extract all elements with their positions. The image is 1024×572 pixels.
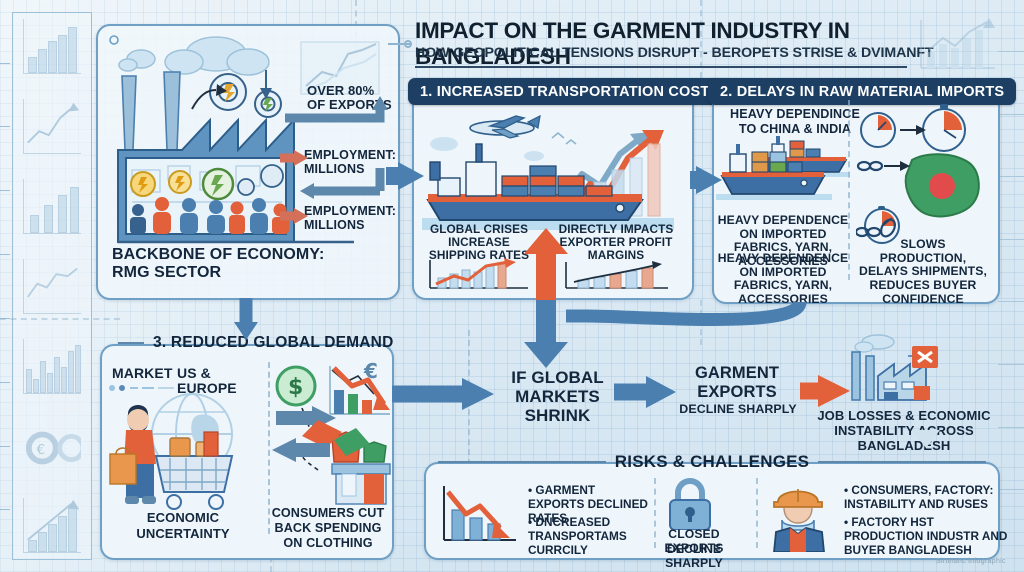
right-tick-marks bbox=[998, 30, 1024, 552]
risks-heading-rule-right bbox=[818, 461, 986, 463]
panel-3-heading: 3. REDUCED GLOBAL DEMAND bbox=[153, 334, 393, 352]
declining-bar-chart-icon bbox=[436, 482, 520, 550]
flow-exports-sub: DECLINE SHARPLY bbox=[668, 403, 808, 417]
mini-euro-donut-icon: € bbox=[23, 419, 81, 473]
mini-bar-chart-icon-2 bbox=[23, 179, 81, 234]
callout-exports-line2: OF EXPORTS bbox=[307, 98, 392, 113]
panel-3-heading-row: 3. REDUCED GLOBAL DEMAND bbox=[102, 334, 392, 352]
panel-3-right-caption-line1: CONSUMERS CUT bbox=[266, 506, 390, 520]
closed-factory-icon bbox=[838, 334, 968, 406]
flow-shrink-line3: SHRINK bbox=[500, 406, 615, 425]
flow-exports-line1: GARMENT bbox=[672, 364, 802, 382]
svg-text:€: € bbox=[363, 360, 378, 383]
mini-histogram-icon bbox=[23, 339, 81, 394]
bullet-dot: • bbox=[844, 483, 848, 497]
backbone-caption-line1: BACKBONE OF ECONOMY: bbox=[112, 246, 324, 264]
risks-right-bullet-2-text: FACTORY HST PRODUCTION INDUSTR AND BUYER… bbox=[844, 515, 1007, 557]
panel-2-left-caption-b: HEAVY DEPENDENCE ON IMPORTED FABRICS, YA… bbox=[716, 252, 850, 307]
risks-right-bullet-1: • CONSUMERS, FACTORY: INSTABILITY AND RU… bbox=[844, 484, 1004, 512]
panel-3-left-caption-line2: UNCERTAINTY bbox=[108, 527, 258, 542]
panel-1-illustration bbox=[414, 100, 688, 240]
risks-right-bullet-2: • FACTORY HST PRODUCTION INDUSTR AND BUY… bbox=[844, 516, 1012, 558]
panel-2-heading: 2. DELAYS IN RAW MATERIAL IMPORTS bbox=[708, 78, 1016, 105]
page-title: IMPACT ON THE GARMENT INDUSTRY IN BANGLA… bbox=[415, 18, 925, 70]
mini-line-chart-icon bbox=[23, 99, 81, 154]
callout-employment-1-line2: MILLIONS bbox=[304, 162, 365, 176]
flow-outcome-line1: JOB LOSSES & ECONOMIC bbox=[806, 409, 1002, 424]
panel-3-right-caption-line3: ON CLOTHING bbox=[266, 536, 390, 550]
panel-1-right-mini-chart-icon bbox=[560, 260, 672, 292]
flow-shrink-line2: MARKETS bbox=[500, 387, 615, 406]
page-subtitle: HOW GEOPOLITICAL TENSIONS DISRUPT - BERO… bbox=[415, 45, 935, 61]
flow-exports-line2: EXPORTS bbox=[672, 383, 802, 401]
panel-2-right-caption: SLOWS PRODUCTION, DELAYS SHIPMENTS, REDU… bbox=[856, 238, 990, 306]
risks-left-bullet-2-text: DNCREASED TRANSPORTAMS CURRCILY bbox=[528, 515, 627, 557]
panel-3-heading-rule-left bbox=[118, 342, 144, 344]
panel-1-left-mini-chart-icon bbox=[424, 258, 534, 292]
mini-area-chart-icon bbox=[23, 259, 81, 314]
panel-1-right-caption: DIRECTLY IMPACTS EXPORTER PROFIT MARGINS bbox=[556, 223, 676, 263]
panel-2-ships-illustration bbox=[716, 132, 856, 212]
panel-3-demand-illustration: $ € bbox=[274, 360, 394, 510]
svg-text:$: $ bbox=[288, 375, 303, 400]
callout-employment-2-line2: MILLIONS bbox=[304, 218, 365, 232]
risks-divider-2 bbox=[756, 478, 758, 548]
bullet-dot: • bbox=[528, 515, 532, 529]
watermark: Sirtmanc infographic bbox=[936, 558, 1006, 565]
panel-3-right-caption-line2: BACK SPENDING bbox=[266, 521, 390, 535]
panel-3-left-caption-line1: ECONOMIC bbox=[108, 511, 258, 526]
bar-line-chart-icon bbox=[915, 16, 997, 74]
svg-text:€: € bbox=[37, 442, 46, 458]
callout-employment-1-line1: EMPLOYMENT: bbox=[304, 148, 396, 162]
decorative-chart-strip: € bbox=[12, 12, 92, 560]
left-tick-marks bbox=[0, 20, 10, 552]
callout-employment-2-line1: EMPLOYMENT: bbox=[304, 204, 396, 218]
guide-line bbox=[468, 330, 470, 465]
worker-helmet-icon bbox=[766, 480, 834, 552]
panel-1-left-caption: GLOBAL CRISES INCREASE SHIPPING RATES bbox=[424, 223, 534, 263]
flow-outcome-line2: INSTABILITY ACROSS bbox=[806, 424, 1002, 439]
panel-2-delay-illustration bbox=[856, 104, 992, 252]
backbone-caption-line2: RMG SECTOR bbox=[112, 264, 221, 282]
infographic-canvas: € IMPACT ON THE GARMENT INDUSTRY IN BANG… bbox=[0, 0, 1024, 572]
risks-right-bullet-1-text: CONSUMERS, FACTORY: INSTABILITY AND RUSE… bbox=[844, 483, 993, 511]
risks-heading-row: RISKS & CHALLENGES bbox=[426, 452, 998, 472]
panel-3-shopper-illustration bbox=[104, 380, 264, 520]
mini-growth-chart-icon bbox=[23, 498, 81, 553]
bullet-dot: • bbox=[844, 515, 848, 529]
title-underline bbox=[415, 66, 907, 68]
bullet-dot: • bbox=[528, 483, 532, 497]
risks-heading: RISKS & CHALLENGES bbox=[615, 452, 809, 472]
risks-heading-rule-left bbox=[438, 461, 606, 463]
guide-line bbox=[0, 318, 120, 320]
padlock-icon bbox=[662, 478, 718, 530]
risks-left-bullet-2: • DNCREASED TRANSPORTAMS CURRCILY bbox=[528, 516, 650, 558]
guide-line bbox=[700, 300, 702, 345]
risks-middle-caption-line2: DECLINE SHARPLY bbox=[642, 543, 746, 570]
flow-shrink-line1: IF GLOBAL bbox=[500, 368, 615, 387]
mini-bar-chart-icon bbox=[23, 19, 81, 74]
